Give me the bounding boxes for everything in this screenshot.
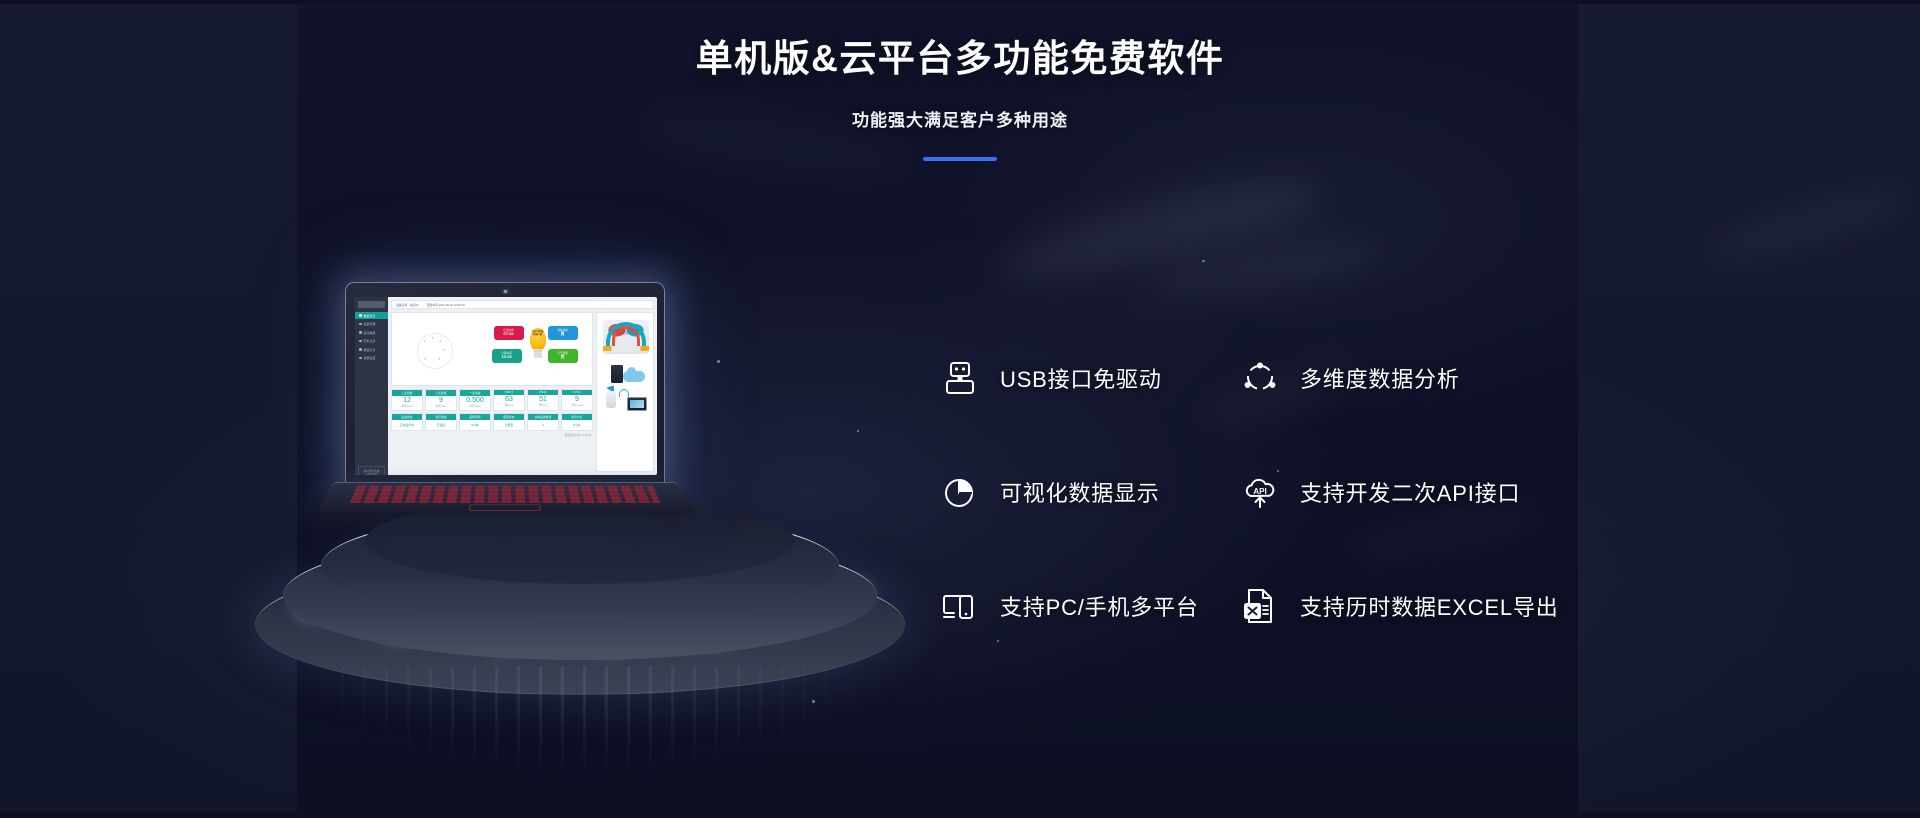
smoke-streak <box>1136 234 1388 311</box>
gauge-segment-label: 环境湿度\n61% <box>443 327 459 333</box>
trackpad <box>469 504 541 510</box>
nodes-icon <box>1240 358 1280 398</box>
feature-item-multidimensional-analysis[interactable]: 多维度数据分析 <box>1240 358 1700 398</box>
metrics-grid: 二氧化碳 12 单位 ppm 二氧化硫 9 单位 ppm <box>391 389 593 437</box>
gauge-segment-label: 气压\n1008hPa <box>406 358 422 364</box>
status-value: 正常运行中 <box>392 420 422 430</box>
gauge-segment-label: 风速\n2级 <box>448 358 464 361</box>
dust-speck <box>717 360 720 363</box>
metric-card-row: 二氧化碳 12 单位 ppm 二氧化硫 9 单位 ppm <box>391 389 593 411</box>
dust-speck <box>1202 260 1205 262</box>
gauge-tick: 1 <box>424 339 426 343</box>
feature-item-multiplatform[interactable]: 支持PC/手机多平台 <box>940 586 1240 626</box>
bullet-icon <box>359 357 362 360</box>
feature-item-visualization[interactable]: 可视化数据显示 <box>940 472 1240 512</box>
metric-unit: 单位 ppm <box>460 404 490 410</box>
sidebar-item-label: 系统设置 <box>364 356 376 360</box>
sidebar-item-realtime[interactable]: 实时数据 <box>355 329 388 336</box>
status-value: 5分钟 <box>460 420 490 430</box>
cloud-icon <box>623 371 645 382</box>
dashboard-diagram-panel: 云平台\n数据采集\n多终端\n远程监控显示 <box>596 312 654 472</box>
page-title: 单机版&云平台多功能免费软件 <box>0 28 1920 82</box>
pie-chart-icon <box>940 472 980 512</box>
bulb-center-text: 今日\n环境状态\n良 <box>531 331 545 337</box>
feature-label: 多维度数据分析 <box>1300 362 1460 394</box>
dust-speck <box>857 430 859 432</box>
dashboard-logo <box>358 301 385 308</box>
sidebar-item-overview[interactable]: 数据总览 <box>355 312 388 319</box>
laptop-lid: 数据总览 设备管理 实时数据 历史记录 <box>345 282 665 487</box>
smoke-streak <box>995 161 1330 299</box>
cloud-api-icon: API <box>1240 472 1280 512</box>
bulb-tag-air-quality: 空气质量 优 <box>548 349 578 363</box>
dashboard-body: 1 2 3 4 5 6 环境温度\n26℃ 环境湿度\n6 <box>391 312 654 472</box>
dashboard-app: 数据总览 设备管理 实时数据 历史记录 <box>355 297 657 475</box>
svg-text:API: API <box>1253 487 1266 496</box>
status-card-row: 设备状态 正常运行中 通讯状态 已连接 采样周期 <box>391 413 593 431</box>
excel-file-icon <box>1240 586 1280 626</box>
status-card: 设备状态 正常运行中 <box>391 413 423 431</box>
status-card: 报警状态 无报警 <box>493 413 525 431</box>
sensor-icon <box>606 391 616 408</box>
feature-list: USB接口免驱动 多维度数据分析 <box>940 358 1700 626</box>
feature-item-excel-export[interactable]: 支持历时数据EXCEL导出 <box>1240 586 1700 626</box>
gauge-segment-label: 空气质量\n优 <box>411 327 427 330</box>
sidebar-item-devices[interactable]: 设备管理 <box>355 321 388 328</box>
tag-value: 优 <box>561 355 565 360</box>
status-value: 3 <box>528 420 558 430</box>
laptop-computer: 数据总览 设备管理 实时数据 历史记录 <box>345 282 675 544</box>
status-card: 累计时长 8小时 <box>561 413 593 431</box>
metric-card: TVOC 9 单位 ppm <box>561 389 593 411</box>
accent-divider <box>923 157 997 161</box>
metric-card: 二氧化硫 9 单位 ppm <box>425 389 457 411</box>
bullet-icon <box>359 331 362 334</box>
sidebar-item-label: 数据总览 <box>364 314 376 318</box>
metric-value: 63 <box>494 395 524 403</box>
visualization-row: 1 2 3 4 5 6 环境温度\n26℃ 环境湿度\n6 <box>391 312 593 386</box>
metric-unit: 单位 ppm <box>562 403 592 409</box>
sidebar-item-history[interactable]: 历史记录 <box>355 338 388 345</box>
status-value: 已连接 <box>426 420 456 430</box>
hero-banner: 单机版&云平台多功能免费软件 功能强大满足客户多种用途 <box>0 0 1920 818</box>
status-value: 8小时 <box>562 420 592 430</box>
toolbar-update-time: 更新时间 2021-05-20 10:25:30 <box>427 303 465 307</box>
multi-color-gauge: 1 2 3 4 5 6 环境温度\n26℃ 环境湿度\n6 <box>403 320 467 378</box>
gauge-segment-label: 环境温度\n26℃ <box>427 324 443 330</box>
gauge-segment-label: 噪声\n45.5dB <box>450 341 466 344</box>
metric-card: PM2.5 63 单位 μg <box>493 389 525 411</box>
metric-value: 0.500 <box>460 396 490 404</box>
server-icon <box>611 365 623 383</box>
metric-value: 9 <box>562 395 592 403</box>
status-value: 无报警 <box>494 420 524 430</box>
metric-value: 51 <box>528 395 558 403</box>
hero-heading-block: 单机版&云平台多功能免费软件 功能强大满足客户多种用途 <box>0 0 1920 161</box>
status-card: 采样周期 5分钟 <box>459 413 491 431</box>
feature-label: 支持历时数据EXCEL导出 <box>1300 590 1559 622</box>
top-edge-band <box>0 0 1920 4</box>
smoke-streak <box>1695 175 1918 276</box>
status-card: 在线设备数量 3 <box>527 413 559 431</box>
tag-value: 16:35 <box>501 355 511 360</box>
page-subtitle: 功能强大满足客户多种用途 <box>0 106 1920 131</box>
gauge-tick: 6 <box>425 357 427 361</box>
metric-unit: 单位 ppm <box>426 404 456 410</box>
tablet-icon <box>627 397 647 411</box>
keyboard <box>350 486 661 503</box>
dashboard-main: 设备名称：站点01 更新时间 2021-05-20 10:25:30 <box>388 297 657 475</box>
wifi-icon <box>619 389 629 397</box>
toolbar-device-name: 设备名称：站点01 <box>396 303 419 307</box>
dashboard-sidebar: 数据总览 设备管理 实时数据 历史记录 <box>355 297 388 475</box>
bottom-edge-band <box>0 812 1920 818</box>
bulb-tag-status: 当前状态 良 <box>548 326 578 340</box>
feature-label: 支持开发二次API接口 <box>1300 476 1520 508</box>
gauge-tick: 2 <box>432 336 434 340</box>
lightbulb-base <box>534 349 542 358</box>
laptop-screen: 数据总览 设备管理 实时数据 历史记录 <box>355 297 657 475</box>
gauge-segment-label: 光照\n1200Lux <box>404 341 420 347</box>
bullet-icon <box>359 323 362 326</box>
diagram-title: 云平台\n数据采集\n多终端\n远程监控显示 <box>613 329 639 335</box>
sidebar-footer: 客户服务热线\n400-000 <box>358 466 385 476</box>
metric-card: PM10 51 单位 μg <box>527 389 559 411</box>
feature-label: 支持PC/手机多平台 <box>1000 590 1199 622</box>
gauge-tick: 5 <box>439 357 441 361</box>
gauge-tick: 4 <box>444 348 446 352</box>
sidebar-item-settings[interactable]: 系统设置 <box>355 355 388 362</box>
bullet-icon <box>359 340 362 343</box>
sidebar-item-label: 历史记录 <box>364 339 376 343</box>
device-illustration <box>605 365 649 417</box>
dashboard-toolbar: 设备名称：站点01 更新时间 2021-05-20 10:25:30 <box>391 300 654 309</box>
dust-speck <box>997 640 999 642</box>
sidebar-item-label: 设备管理 <box>364 322 376 326</box>
dashboard-timestamp: 数据更新时间 10:25:30 <box>391 433 593 437</box>
bulb-infographic: 今日\n环境状态\n良 日出时间 07:20 当前状态 良 <box>488 318 582 380</box>
bullet-icon <box>359 314 362 317</box>
metric-value: 9 <box>426 396 456 404</box>
metric-value: 12 <box>392 396 422 404</box>
bulb-tag-sunrise: 日出时间 07:20 <box>494 326 524 340</box>
tag-value: 良 <box>561 332 565 337</box>
feature-label: 可视化数据显示 <box>1000 476 1160 508</box>
feature-item-api[interactable]: API 支持开发二次API接口 <box>1240 472 1700 512</box>
podium-radial-lines <box>275 666 885 796</box>
sidebar-item-alarms[interactable]: 报警信息 <box>355 346 388 353</box>
tag-value: 07:20 <box>503 332 513 337</box>
sidebar-item-label: 实时数据 <box>364 331 376 335</box>
metric-card: 一氧化碳 0.500 单位 ppm <box>459 389 491 411</box>
metric-unit: 单位 μg <box>494 403 524 409</box>
metric-unit: 单位 μg <box>528 403 558 409</box>
devices-icon <box>940 586 980 626</box>
bulb-tag-sunset: 日落时间 16:35 <box>492 349 522 363</box>
dashboard-left-column: 1 2 3 4 5 6 环境温度\n26℃ 环境湿度\n6 <box>391 312 593 472</box>
usb-icon <box>940 358 980 398</box>
webcam-icon <box>502 289 509 294</box>
gauge-tick: 3 <box>440 339 442 343</box>
metric-unit: 单位 ppm <box>392 404 422 410</box>
status-card: 通讯状态 已连接 <box>425 413 457 431</box>
feature-label: USB接口免驱动 <box>1000 362 1162 394</box>
metric-card: 二氧化碳 12 单位 ppm <box>391 389 423 411</box>
bullet-icon <box>359 348 362 351</box>
feature-item-usb[interactable]: USB接口免驱动 <box>940 358 1240 398</box>
diagram-base-bar <box>603 346 649 351</box>
laptop-base <box>317 482 693 513</box>
sidebar-item-label: 报警信息 <box>364 348 376 352</box>
